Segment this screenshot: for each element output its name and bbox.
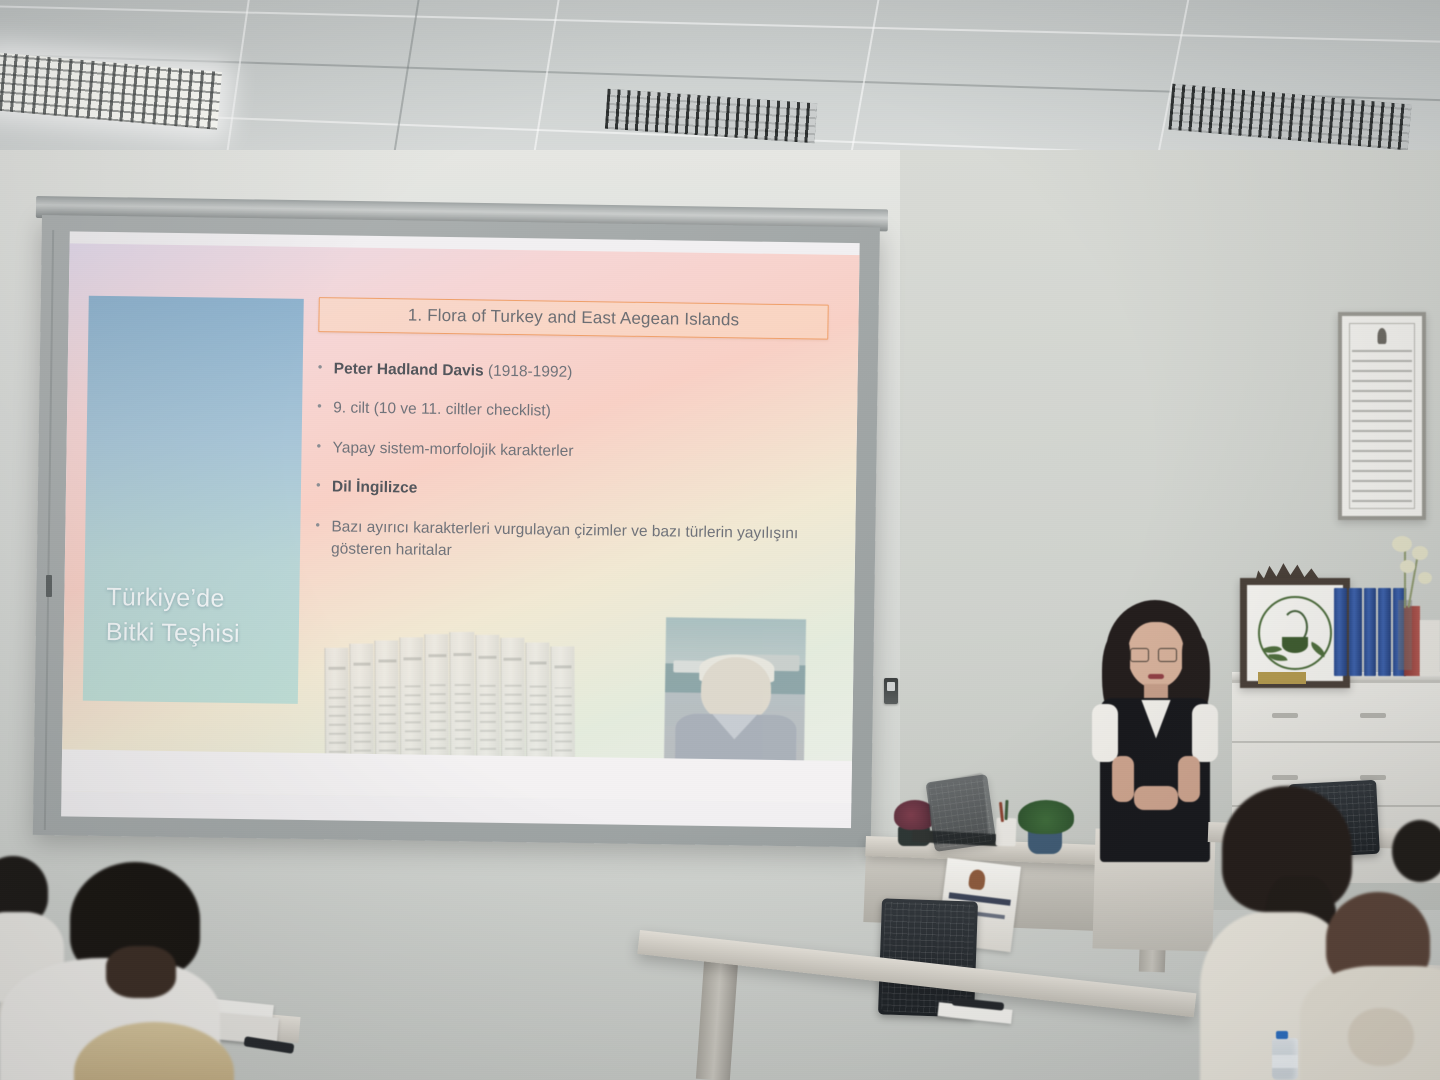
bullet-text: Bazı ayırıcı karakterleri vurgulayan çiz… bbox=[331, 516, 826, 568]
bullet-item: • Yapay sistem-morfolojik karakterler bbox=[316, 437, 826, 467]
presentation-slide: Türkiye’de Bitki Teşhisi 1. Flora of Tur… bbox=[61, 243, 859, 803]
presenter-arm-right bbox=[1192, 704, 1218, 762]
bullet-marker: • bbox=[317, 398, 333, 417]
presenter-glasses-right bbox=[1158, 648, 1177, 662]
flower bbox=[1418, 572, 1432, 584]
classroom-scene: Türkiye’de Bitki Teşhisi 1. Flora of Tur… bbox=[0, 0, 1440, 1080]
presenter bbox=[1086, 600, 1222, 862]
bullet-text: Yapay sistem-morfolojik karakterler bbox=[332, 437, 826, 467]
white-box bbox=[1420, 620, 1440, 676]
ceiling-light-fixture-off-center bbox=[605, 89, 817, 144]
sidebar-title-line1: Türkiye’de bbox=[106, 580, 289, 617]
slide-title-box: 1. Flora of Turkey and East Aegean Islan… bbox=[318, 297, 828, 340]
flower bbox=[1412, 546, 1428, 560]
slide-sidebar-title: Türkiye’de Bitki Teşhisi bbox=[106, 580, 290, 652]
flower-vase bbox=[1398, 600, 1412, 670]
blue-book-set bbox=[1334, 588, 1406, 676]
bullet-marker: • bbox=[316, 437, 332, 456]
screen-surface: Türkiye’de Bitki Teşhisi 1. Flora of Tur… bbox=[61, 231, 860, 828]
ceiling-light-fixture-on bbox=[0, 52, 222, 130]
chair-teacher[interactable] bbox=[925, 774, 996, 852]
presenter-lips bbox=[1148, 674, 1164, 679]
bullet-marker: • bbox=[316, 477, 332, 496]
presenter-glasses-left bbox=[1130, 648, 1149, 662]
ceiling-light-fixture-off-right bbox=[1168, 84, 1411, 151]
bullet-bold: Dil İngilizce bbox=[332, 479, 418, 497]
slide-sidebar-panel: Türkiye’de Bitki Teşhisi bbox=[83, 296, 304, 704]
bullet-item: • Bazı ayırıcı karakterleri vurgulayan ç… bbox=[315, 516, 826, 568]
emblem-name-plate bbox=[1258, 672, 1306, 684]
flower bbox=[1392, 536, 1412, 552]
slide-title: 1. Flora of Turkey and East Aegean Islan… bbox=[408, 305, 740, 329]
projection-screen: Türkiye’de Bitki Teşhisi 1. Flora of Tur… bbox=[33, 215, 880, 847]
presenter-arm-left bbox=[1092, 704, 1118, 762]
bullet-item: • Dil İngilizce bbox=[316, 477, 826, 507]
pen-cup bbox=[996, 818, 1017, 847]
potted-plant-leaves-green bbox=[1018, 800, 1074, 834]
sidebar-title-line2: Bitki Teşhisi bbox=[106, 614, 289, 651]
wall-switch[interactable] bbox=[884, 678, 898, 704]
slide-body: 1. Flora of Turkey and East Aegean Islan… bbox=[315, 297, 829, 585]
bullet-item: • Peter Hadland Davis (1918-1992) bbox=[318, 358, 828, 388]
screen-cable-clip bbox=[46, 575, 52, 597]
bullet-bold: Peter Hadland Davis bbox=[334, 360, 484, 379]
student-far-right bbox=[1392, 820, 1440, 950]
framed-certificate bbox=[1338, 312, 1426, 520]
bullet-text: 9. cilt (10 ve 11. ciltler checklist) bbox=[333, 398, 827, 428]
student-front-left-blonde bbox=[74, 1022, 244, 1080]
bullet-marker: • bbox=[315, 516, 331, 535]
bullet-marker: • bbox=[318, 358, 334, 377]
bullet-item: • 9. cilt (10 ve 11. ciltler checklist) bbox=[317, 398, 827, 428]
flower bbox=[1400, 560, 1415, 573]
presenter-hands bbox=[1134, 786, 1178, 810]
water-bottle-student-desk[interactable] bbox=[1272, 1038, 1298, 1080]
bullet-text: (1918-1992) bbox=[484, 363, 573, 381]
slide-bullet-list: • Peter Hadland Davis (1918-1992) • 9. c… bbox=[315, 358, 828, 568]
